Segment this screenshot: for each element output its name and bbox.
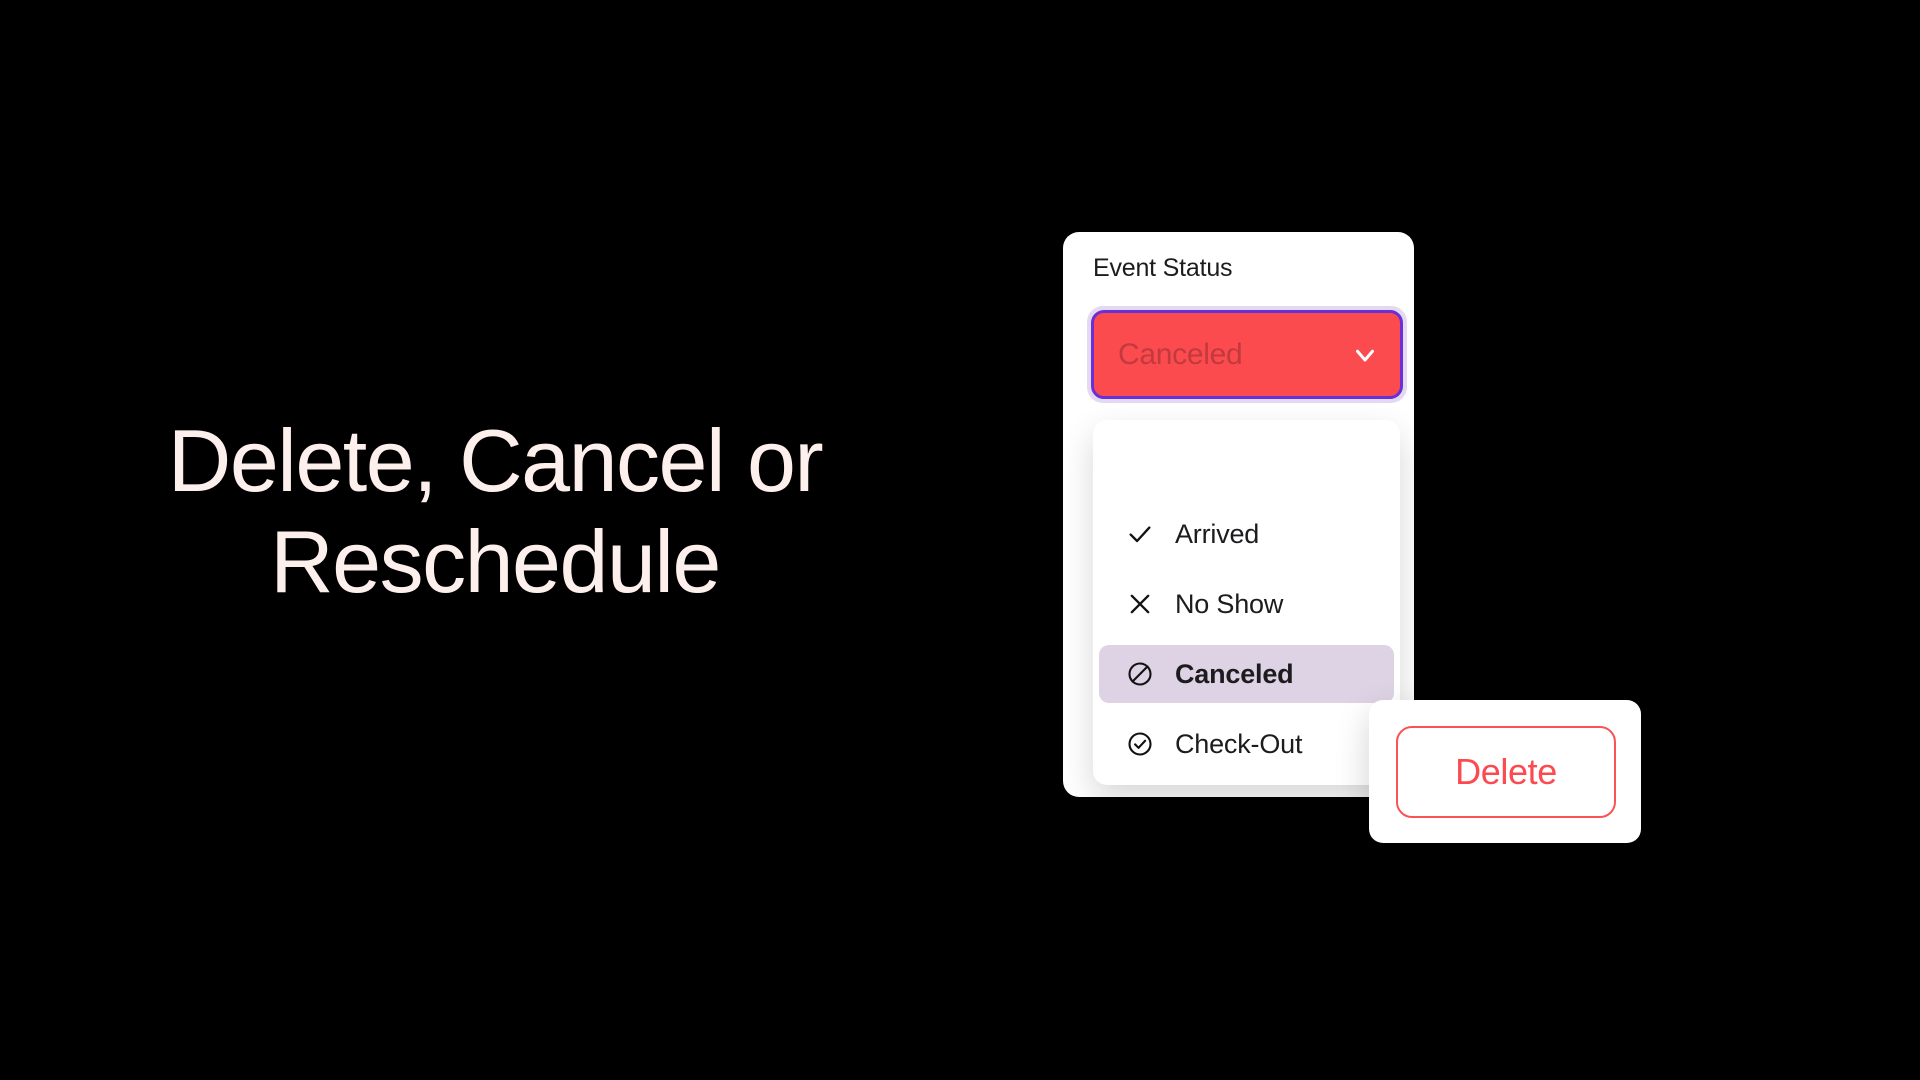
dropdown-option-label: Arrived (1175, 519, 1259, 550)
screenshot-root: Delete, Cancel or Reschedule Event Statu… (0, 0, 1920, 1080)
close-x-icon (1125, 589, 1155, 619)
page-title-line-1: Delete, Cancel or (80, 410, 910, 511)
page-title-line-2: Reschedule (80, 511, 910, 612)
dropdown-option-label: Check-Out (1175, 729, 1302, 760)
dropdown-option-arrived[interactable]: Arrived (1099, 505, 1394, 563)
check-icon (1125, 519, 1155, 549)
check-circle-icon (1125, 729, 1155, 759)
dropdown-option-label: Canceled (1175, 659, 1293, 690)
event-status-dropdown[interactable]: Arrived No Show Canceled (1093, 420, 1400, 785)
event-status-label: Event Status (1093, 254, 1232, 283)
dropdown-option-no-show[interactable]: No Show (1099, 575, 1394, 633)
dropdown-option-canceled[interactable]: Canceled (1099, 645, 1394, 703)
dropdown-option-label: No Show (1175, 589, 1283, 620)
page-title: Delete, Cancel or Reschedule (80, 410, 910, 612)
event-status-select[interactable]: Canceled (1091, 310, 1403, 399)
delete-card: Delete (1369, 700, 1641, 843)
event-status-select-value: Canceled (1118, 338, 1242, 372)
dropdown-option-check-out[interactable]: Check-Out (1099, 715, 1394, 773)
dropdown-top-spacer (1093, 420, 1400, 505)
chevron-down-icon[interactable] (1350, 340, 1380, 370)
ban-icon (1125, 659, 1155, 689)
event-status-select-focus-ring: Canceled (1087, 306, 1407, 403)
delete-button[interactable]: Delete (1396, 726, 1616, 818)
